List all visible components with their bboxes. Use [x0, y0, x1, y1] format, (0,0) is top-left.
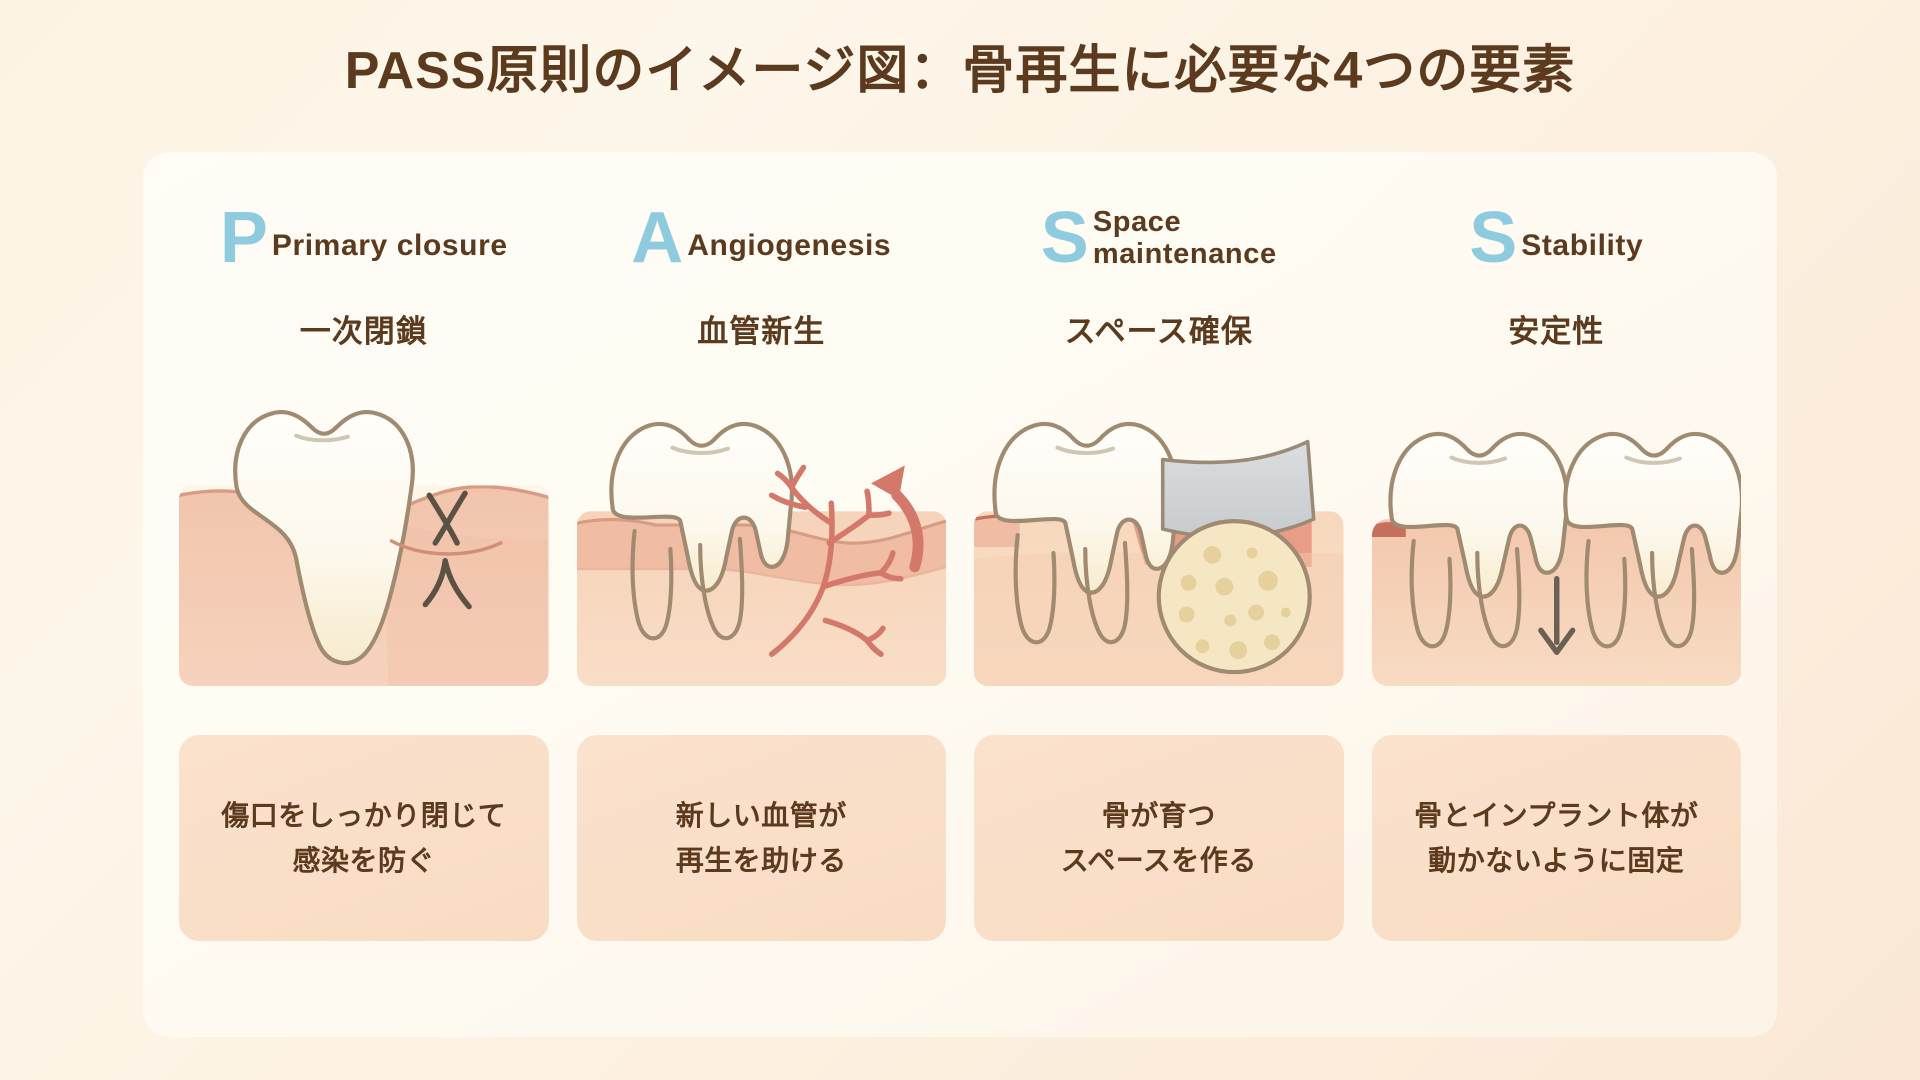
column-header: S Space maintenance	[974, 188, 1344, 284]
big-letter-p: P	[220, 205, 268, 271]
caption-card: 骨とインプラント体が 動かないように固定	[1372, 735, 1742, 941]
japanese-label: スペース確保	[1065, 306, 1253, 351]
caption-text: 新しい血管が 再生を助ける	[676, 793, 847, 884]
columns-container: P Primary closure 一次閉鎖	[143, 152, 1777, 1037]
english-label: Angiogenesis	[687, 229, 891, 263]
japanese-label: 安定性	[1508, 306, 1604, 351]
caption-text: 傷口をしっかり閉じて 感染を防ぐ	[221, 793, 506, 884]
caption-text: 骨とインプラント体が 動かないように固定	[1414, 793, 1698, 884]
column-space-maintenance: S Space maintenance スペース確保	[960, 188, 1358, 1003]
illustration-two-teeth-with-down-arrow	[1372, 391, 1742, 687]
big-letter-a: A	[631, 205, 683, 271]
caption-card: 新しい血管が 再生を助ける	[577, 735, 947, 941]
caption-card: 骨が育つ スペースを作る	[974, 735, 1344, 941]
caption-card: 傷口をしっかり閉じて 感染を防ぐ	[179, 735, 549, 941]
column-primary-closure: P Primary closure 一次閉鎖	[165, 188, 563, 1003]
page-title: PASS原則のイメージ図：骨再生に必要な4つの要素	[0, 28, 1920, 103]
column-stability: S Stability 安定性	[1358, 188, 1756, 1003]
illustration-tooth-with-blood-vessels	[577, 391, 947, 687]
english-label: Space maintenance	[1093, 206, 1277, 271]
illustration-tooth-with-suture	[179, 391, 549, 687]
japanese-label: 血管新生	[697, 306, 825, 351]
column-header: A Angiogenesis	[577, 188, 947, 284]
column-header: S Stability	[1372, 188, 1742, 284]
caption-text: 骨が育つ スペースを作る	[1061, 793, 1257, 884]
illustration-tooth-with-membrane-and-graft	[974, 391, 1344, 687]
content-panel: P Primary closure 一次閉鎖	[143, 152, 1777, 1037]
english-label: Stability	[1521, 229, 1643, 263]
english-label: Primary closure	[272, 229, 508, 263]
column-angiogenesis: A Angiogenesis 血管新生	[563, 188, 961, 1003]
column-header: P Primary closure	[179, 188, 549, 284]
japanese-label: 一次閉鎖	[300, 306, 428, 351]
big-letter-s-stability: S	[1469, 205, 1517, 271]
big-letter-s-space: S	[1041, 205, 1089, 271]
